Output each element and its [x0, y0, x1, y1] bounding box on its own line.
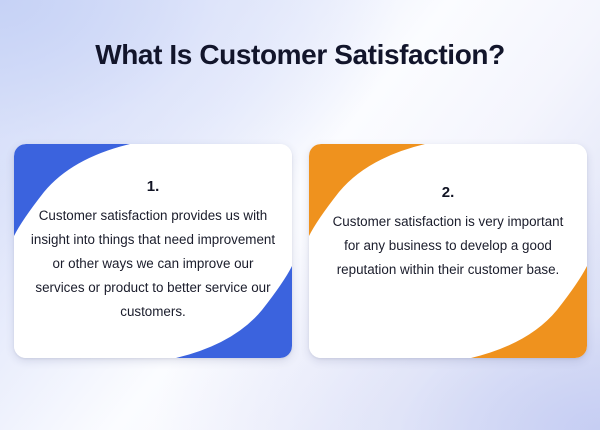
- slide-canvas: What Is Customer Satisfaction? 1. Custom…: [0, 0, 600, 430]
- card-item-2[interactable]: 2. Customer satisfaction is very importa…: [309, 144, 587, 358]
- card-item-1[interactable]: 1. Customer satisfaction provides us wit…: [14, 144, 292, 358]
- card-number-2: 2.: [442, 184, 455, 202]
- card-text-1: Customer satisfaction provides us with i…: [30, 204, 276, 324]
- card-list: 1. Customer satisfaction provides us wit…: [14, 144, 587, 358]
- card-text-2: Customer satisfaction is very important …: [326, 210, 570, 282]
- card-number-1: 1.: [147, 178, 160, 196]
- card-content-1: 1. Customer satisfaction provides us wit…: [14, 144, 292, 358]
- card-content-2: 2. Customer satisfaction is very importa…: [309, 144, 587, 358]
- page-title: What Is Customer Satisfaction?: [0, 38, 600, 72]
